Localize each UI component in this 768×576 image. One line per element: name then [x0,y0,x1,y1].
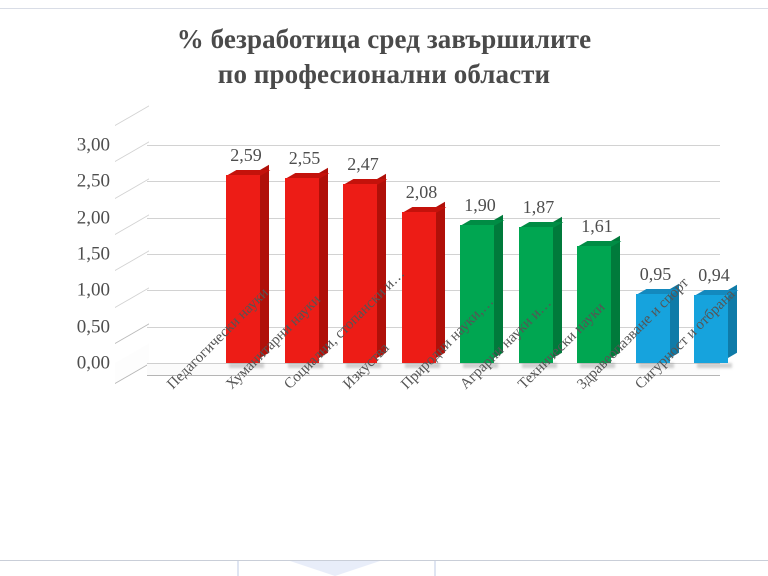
bar-value-label: 1,87 [499,198,579,216]
gridline-riser [115,178,149,219]
bar-side-face [260,165,269,358]
bar[interactable] [519,227,553,363]
bar-front-face [519,227,553,363]
bar-column[interactable] [402,212,436,363]
slide-bottom-divider [0,560,768,561]
bar-front-face [460,225,494,363]
next-slide-bleed-left [237,561,239,576]
next-slide-bleed-shape [290,561,380,576]
gridline-riser [115,287,149,328]
y-axis-tick-labels: 3,002,502,001,501,000,500,00 [18,140,110,370]
bar-value-label: 2,47 [323,155,403,173]
chart-title-line-1: % безработица сред завършилите [0,22,768,57]
bar-value-label: 1,61 [557,217,637,235]
bar-side-face [377,173,386,358]
gridline-riser [115,105,149,146]
chart-title: % безработица сред завършилите по профес… [0,22,768,91]
bar-column[interactable] [460,225,494,363]
bar[interactable] [460,225,494,363]
bar-column[interactable] [519,227,553,363]
y-axis-tick-label: 2,50 [18,172,110,191]
y-axis-tick-label: 0,50 [18,317,110,336]
next-slide-bleed-right [434,561,436,576]
gridline-riser [115,142,149,183]
gridline-riser [115,251,149,292]
gridline-riser [115,214,149,255]
bar-side-face [319,168,328,358]
y-axis-tick-label: 1,00 [18,281,110,300]
y-axis-tick-label: 2,00 [18,208,110,227]
bar-front-face [402,212,436,363]
y-axis-tick-label: 1,50 [18,245,110,264]
x-axis-category-labels: Педагогически наукиХуманитарни наукиСоци… [0,368,768,548]
chart-title-line-2: по професионални области [0,57,768,92]
y-axis-tick-label: 3,00 [18,136,110,155]
slide-canvas: % безработица сред завършилите по профес… [0,0,768,576]
bar[interactable] [402,212,436,363]
slide-top-divider [0,8,768,9]
